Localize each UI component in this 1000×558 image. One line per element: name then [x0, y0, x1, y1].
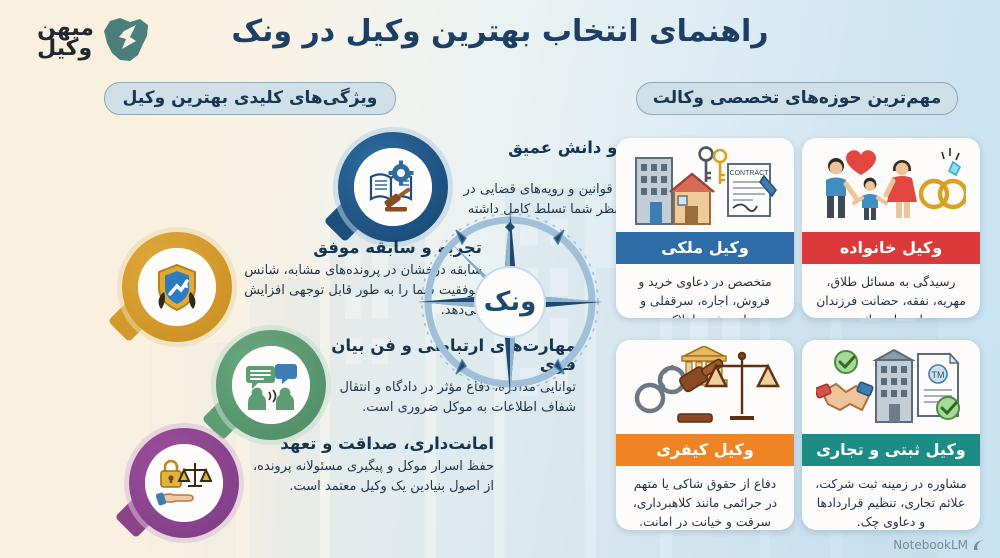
card-ribbon-label: وکیل ملکی — [616, 232, 794, 264]
compass-rose: ونک — [414, 206, 606, 398]
hand-lock-scales-icon — [156, 455, 212, 511]
feature-title: امانت‌داری، صداقت و تعهد — [239, 434, 494, 453]
feature-icon-badge-3 — [216, 330, 326, 440]
card-illustration: TM — [802, 340, 980, 432]
handshake-building-document-icon: TM — [816, 346, 966, 432]
card-illustration — [616, 340, 794, 432]
section-heading-features: ویژگی‌های کلیدی بهترین وکیل — [104, 82, 396, 115]
card-description: دفاع از حقوق شاکی یا متهم در جرائمی مانن… — [616, 466, 794, 530]
page-title: راهنمای انتخاب بهترین وکیل در ونک — [0, 14, 1000, 49]
watermark-label: NotebookLM — [893, 538, 968, 552]
people-speech-bubbles-icon — [244, 358, 298, 412]
feature-item-2: تجربه و سابقه موفق سابقه درخشان در پروند… — [22, 232, 482, 342]
card-illustration: CONTRACT — [616, 138, 794, 230]
family-heart-rings-icon — [816, 144, 966, 230]
practice-card-commercial[interactable]: TM وکیل ثبتی و تجاری مشاوره در زمینه ثبت… — [802, 340, 980, 530]
card-ribbon-label: وکیل ثبتی و تجاری — [802, 434, 980, 466]
handcuffs-gavel-scales-icon — [630, 346, 780, 432]
feature-icon-badge-4 — [129, 428, 239, 538]
shield-laurel-arrow-icon — [150, 260, 204, 314]
book-gear-gavel-icon — [365, 159, 421, 215]
notebooklm-icon — [973, 539, 986, 552]
feature-item-4: امانت‌داری، صداقت و تعهد حفظ اسرار موکل … — [14, 428, 494, 538]
card-ribbon-label: وکیل خانواده — [802, 232, 980, 264]
card-description: مشاوره در زمینه ثبت شرکت، علائم تجاری، ت… — [802, 466, 980, 530]
practice-card-real-estate[interactable]: CONTRACT وکیل ملکی متخصص در دعاوی خرید و… — [616, 138, 794, 318]
card-description: متخصص در دعاوی خرید و فروش، اجاره، سرقفل… — [616, 264, 794, 318]
practice-card-family[interactable]: وکیل خانواده رسیدگی به مسائل طلاق، مهریه… — [802, 138, 980, 318]
card-illustration — [802, 138, 980, 230]
watermark: NotebookLM — [893, 538, 986, 552]
feature-icon-badge-2 — [122, 232, 232, 342]
svg-text:TM: TM — [932, 370, 945, 380]
compass-center-label: ونک — [414, 287, 606, 317]
buildings-keys-contract-icon: CONTRACT — [630, 144, 780, 230]
infographic-canvas: میهن وکیل راهنمای انتخاب بهترین وکیل در … — [0, 0, 1000, 558]
feature-desc: حفظ اسرار موکل و پیگیری مسئولانه پرونده،… — [239, 457, 494, 497]
card-ribbon-label: وکیل کیفری — [616, 434, 794, 466]
section-heading-practice-areas: مهم‌ترین حوزه‌های تخصصی وکالت — [636, 82, 958, 115]
card-description: رسیدگی به مسائل طلاق، مهریه، نفقه، حضانت… — [802, 264, 980, 318]
practice-card-criminal[interactable]: وکیل کیفری دفاع از حقوق شاکی یا متهم در … — [616, 340, 794, 530]
